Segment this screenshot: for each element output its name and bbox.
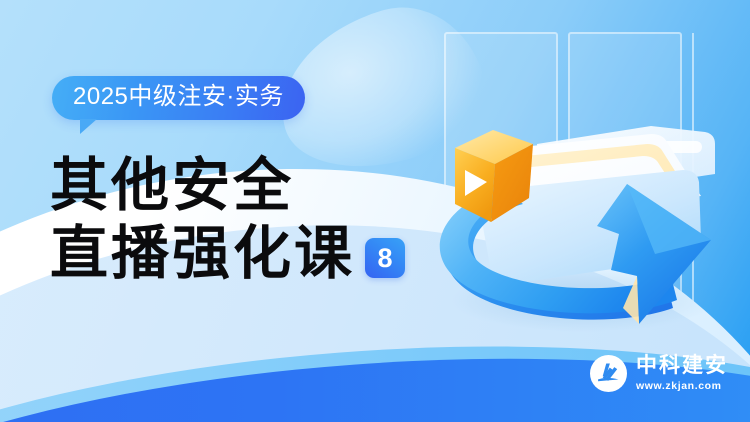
- title-line-1: 其他安全: [50, 152, 405, 220]
- category-badge-tail: [80, 119, 97, 134]
- course-illustration: [415, 8, 750, 348]
- title-line-2-text: 直播强化课: [50, 220, 355, 288]
- course-promo-banner: 2025中级注安·实务 其他安全 直播强化课 8 中科建安 www.zkjan.…: [0, 0, 750, 422]
- category-badge-label: 2025中级注安·实务: [52, 76, 305, 120]
- title-line-1-text: 其他安全: [50, 153, 294, 218]
- zkjan-logo-icon: [590, 355, 627, 392]
- brand-text: 中科建安 www.zkjan.com: [636, 355, 728, 392]
- episode-number-badge: 8: [365, 238, 405, 278]
- category-badge[interactable]: 2025中级注安·实务: [52, 76, 305, 120]
- page-title: 其他安全 直播强化课 8: [50, 152, 405, 288]
- brand-name: 中科建安: [636, 355, 728, 376]
- brand-url: www.zkjan.com: [636, 381, 728, 392]
- brand-logo[interactable]: 中科建安 www.zkjan.com: [590, 355, 728, 392]
- title-line-2: 直播强化课 8: [50, 220, 405, 288]
